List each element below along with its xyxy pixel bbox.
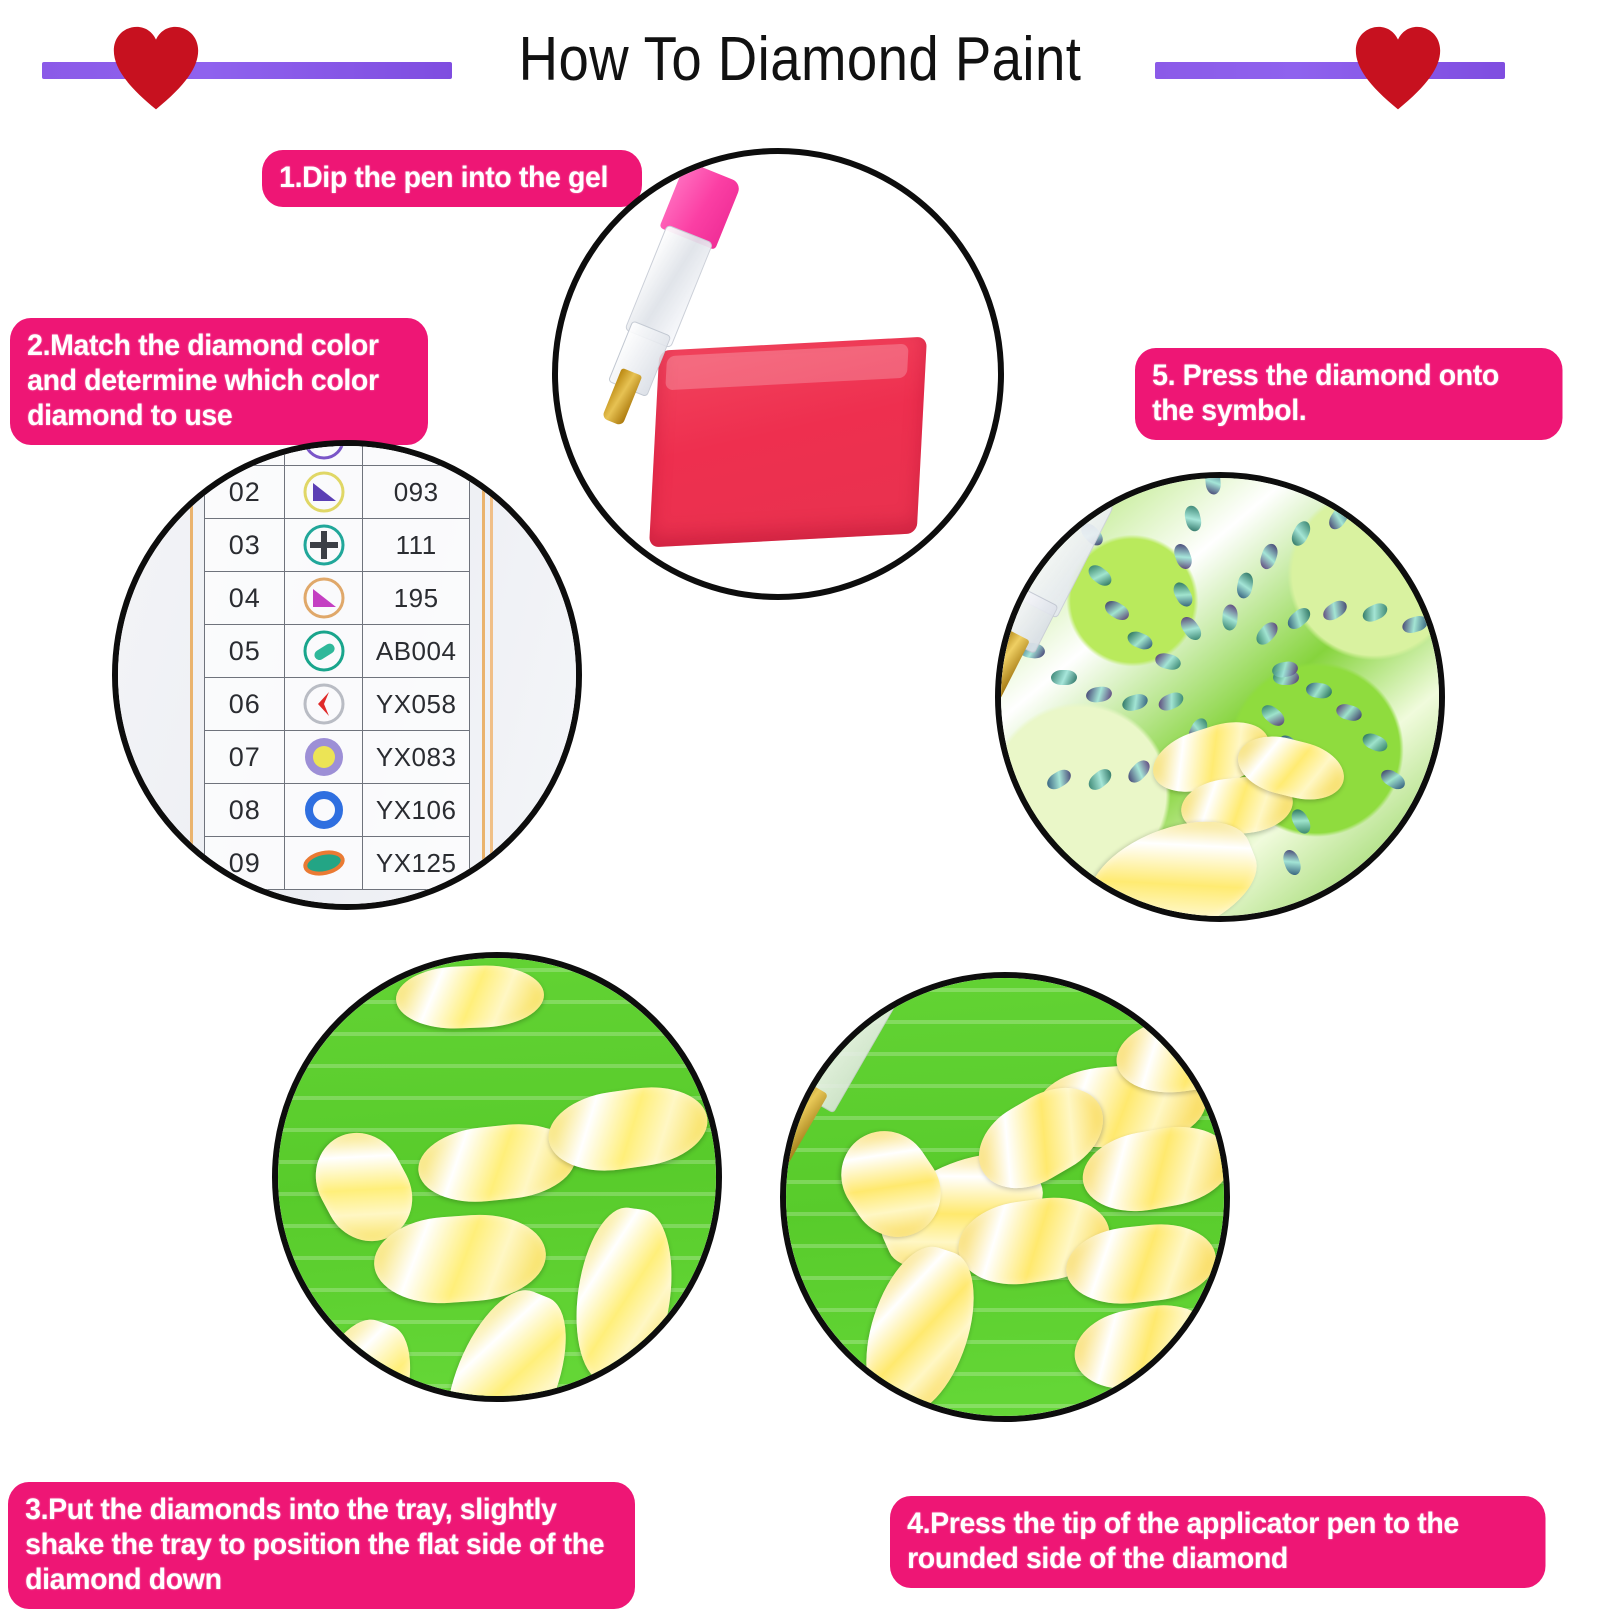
photo-color-chart: 02802093031110419505AB00406YX05807YX0830… — [112, 440, 582, 910]
diamond-gem — [1280, 847, 1303, 877]
table-row: 09YX125 — [205, 837, 470, 890]
diamond-tray — [278, 958, 716, 1396]
legend-symbol-icon — [285, 625, 363, 678]
legend-symbol-icon — [285, 731, 363, 784]
diamond-gem — [1102, 598, 1132, 624]
photo-pen-into-gel — [552, 148, 1004, 600]
diamond-gem — [1085, 686, 1113, 705]
diamond-gem — [1320, 598, 1350, 625]
diamond-gem — [1258, 701, 1288, 729]
tray-groove — [278, 1032, 716, 1036]
legend-number: 07 — [205, 731, 285, 784]
diamond-gem — [1360, 601, 1390, 626]
photo-diamonds-in-tray — [272, 952, 722, 1402]
gel-square — [649, 337, 927, 548]
legend-number: 09 — [205, 837, 285, 890]
table-row: 02093 — [205, 466, 470, 519]
legend-number: 03 — [205, 519, 285, 572]
infographic-page: How To Diamond Paint 1.Dip the pen into … — [0, 0, 1600, 1600]
diamond-gem — [1121, 692, 1150, 714]
diamond-gem — [1183, 505, 1203, 534]
tray-groove — [786, 1404, 1224, 1408]
color-legend-table: 02802093031110419505AB00406YX05807YX0830… — [204, 440, 470, 890]
diamond-gem — [1044, 766, 1074, 793]
legend-number: 08 — [205, 784, 285, 837]
diamond-gem — [1222, 604, 1238, 631]
legend-code: YX106 — [363, 784, 470, 837]
diamond-gem — [1154, 651, 1183, 672]
legend-number: 04 — [205, 572, 285, 625]
diamond-gem — [1204, 472, 1221, 496]
diamond-gem — [1258, 542, 1280, 571]
diamond-gem — [1171, 542, 1194, 572]
table-row: 04195 — [205, 572, 470, 625]
legend-symbol-icon — [285, 519, 363, 572]
legend-number: 05 — [205, 625, 285, 678]
legend-number: 02 — [205, 466, 285, 519]
step-5-label: 5. Press the diamond onto the symbol. — [1135, 348, 1563, 440]
diamond-gem — [1305, 681, 1333, 699]
table-row: 07YX083 — [205, 731, 470, 784]
legend-code: 111 — [363, 519, 470, 572]
diamond-gem — [1378, 766, 1408, 792]
diamond-gem — [1288, 519, 1313, 549]
table-row: 08YX106 — [205, 784, 470, 837]
legend-code: YX083 — [363, 731, 470, 784]
step-2-label: 2.Match the diamond color and determine … — [10, 318, 428, 445]
pen-tip — [602, 368, 643, 426]
diamond-gem — [1284, 604, 1313, 632]
diamond-gem — [1156, 689, 1186, 713]
legend-code: YX058 — [363, 678, 470, 731]
chart-margin-line — [190, 446, 193, 910]
legend-code: AB004 — [363, 625, 470, 678]
table-row: 06YX058 — [205, 678, 470, 731]
chart-margin-line — [490, 446, 493, 910]
legend-code: 195 — [363, 572, 470, 625]
diamond-gem — [1235, 571, 1254, 599]
photo-press-onto-symbol — [995, 472, 1445, 922]
diamond-gem — [1326, 502, 1353, 532]
chart-paper: 02802093031110419505AB00406YX05807YX0830… — [118, 446, 582, 910]
diamond-gem — [1253, 619, 1281, 648]
tray-groove — [278, 1064, 716, 1068]
diamond-gem — [395, 963, 545, 1030]
diamond-gem — [1400, 614, 1429, 636]
chart-margin-line — [482, 446, 485, 910]
diamond-gem — [1051, 670, 1077, 685]
diamond-gem — [1360, 730, 1390, 754]
diamond-gem — [1086, 766, 1116, 794]
legend-symbol-icon — [285, 572, 363, 625]
step-1-label: 1.Dip the pen into the gel — [262, 150, 642, 207]
legend-code: 028 — [363, 440, 470, 466]
diamond-gem — [1170, 579, 1196, 609]
diamond-gem — [1085, 561, 1115, 589]
table-row: 03111 — [205, 519, 470, 572]
step-3-label: 3.Put the diamonds into the tray, slight… — [8, 1482, 635, 1609]
diamond-gem — [566, 1202, 682, 1389]
photo-press-tip — [780, 972, 1230, 1422]
table-row: 05AB004 — [205, 625, 470, 678]
diamond-gem — [1335, 701, 1364, 722]
diamond-gem — [1178, 614, 1206, 644]
step-4-label: 4.Press the tip of the applicator pen to… — [890, 1496, 1546, 1588]
legend-symbol-icon — [285, 837, 363, 890]
legend-symbol-icon — [285, 466, 363, 519]
diamond-gem — [1125, 628, 1155, 652]
page-title: How To Diamond Paint — [96, 24, 1504, 96]
legend-code: YX125 — [363, 837, 470, 890]
diamond-gem — [1124, 756, 1153, 785]
diamond-gem — [1288, 806, 1313, 836]
legend-symbol-icon — [285, 678, 363, 731]
page-header: How To Diamond Paint — [0, 0, 1600, 125]
legend-number: 06 — [205, 678, 285, 731]
legend-symbol-icon — [285, 784, 363, 837]
legend-code: 093 — [363, 466, 470, 519]
